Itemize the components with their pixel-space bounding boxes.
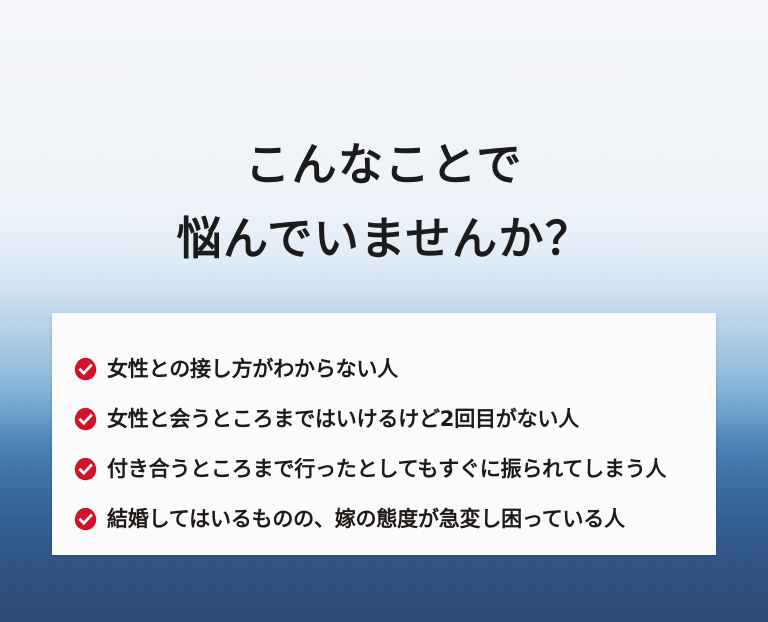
list-item-label: 結婚してはいるものの、嫁の態度が急変し困っている人 (107, 508, 625, 531)
check-circle-icon (74, 458, 97, 481)
list-item: 女性と会うところまではいけるけど2回目がない人 (74, 394, 716, 444)
check-circle-icon (74, 358, 97, 381)
checklist-card: 女性との接し方がわからない人 女性と会うところまではいけるけど2回目がない人 付… (52, 313, 716, 555)
list-item-label: 女性と会うところまではいけるけど2回目がない人 (107, 408, 579, 431)
list-item-label: 女性との接し方がわからない人 (107, 358, 398, 381)
slide-canvas: こんなことで 悩んでいませんか？ 女性との接し方がわからない人 女性と会うところ (0, 0, 768, 622)
check-circle-icon (74, 508, 97, 531)
list-item: 女性との接し方がわからない人 (74, 344, 716, 394)
page-title: こんなことで 悩んでいませんか？ (0, 128, 768, 276)
headline-line-1: こんなことで (0, 128, 768, 202)
list-item-label: 付き合うところまで行ったとしてもすぐに振られてしまう人 (107, 458, 666, 481)
check-circle-icon (74, 408, 97, 431)
headline-line-2: 悩んでいませんか？ (0, 202, 768, 276)
list-item: 結婚してはいるものの、嫁の態度が急変し困っている人 (74, 494, 716, 544)
list-item: 付き合うところまで行ったとしてもすぐに振られてしまう人 (74, 444, 716, 494)
checklist: 女性との接し方がわからない人 女性と会うところまではいけるけど2回目がない人 付… (52, 313, 716, 544)
